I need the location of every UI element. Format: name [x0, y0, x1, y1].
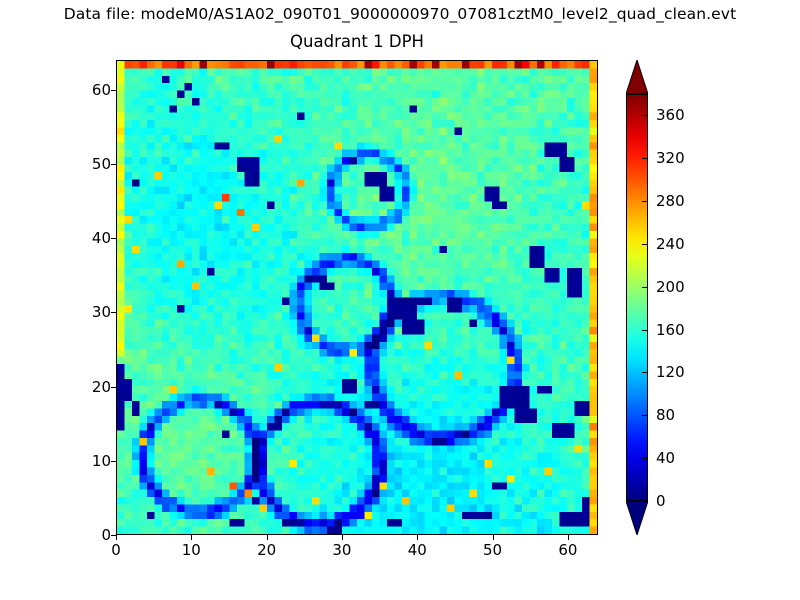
x-tick-mark — [568, 535, 569, 540]
colorbar-tick-mark — [642, 287, 648, 288]
axes-title: Quadrant 1 DPH — [116, 32, 598, 51]
colorbar-tick-mark — [642, 201, 648, 202]
x-tick-mark — [191, 535, 192, 540]
colorbar-tick-mark — [642, 158, 648, 159]
y-tick-label: 40 — [71, 229, 111, 247]
data-file-suptitle: Data file: modeM0/AS1A02_090T01_90000009… — [0, 5, 800, 23]
x-tick-mark — [342, 535, 343, 540]
y-tick-mark — [111, 164, 116, 165]
figure-root: Data file: modeM0/AS1A02_090T01_90000009… — [0, 0, 800, 600]
colorbar-extend-bottom — [626, 501, 648, 535]
x-tick-mark — [116, 535, 117, 540]
colorbar-extend-top — [626, 60, 648, 94]
y-tick-mark — [111, 238, 116, 239]
colorbar-tick-label: 200 — [656, 278, 685, 296]
colorbar-tick-label: 0 — [656, 492, 666, 510]
y-tick-label: 10 — [71, 452, 111, 470]
x-tick-mark — [493, 535, 494, 540]
colorbar-tick-label: 160 — [656, 321, 685, 339]
colorbar-tick-mark — [642, 372, 648, 373]
x-tick-label: 50 — [471, 541, 515, 559]
y-tick-label: 20 — [71, 378, 111, 396]
colorbar-tick-mark — [642, 330, 648, 331]
colorbar-tick-mark — [642, 458, 648, 459]
x-tick-label: 20 — [245, 541, 289, 559]
heatmap-plot-area — [116, 60, 598, 535]
x-tick-label: 10 — [169, 541, 213, 559]
y-tick-label: 30 — [71, 303, 111, 321]
colorbar-tick-label: 80 — [656, 406, 675, 424]
y-tick-label: 50 — [71, 155, 111, 173]
colorbar-tick-label: 280 — [656, 192, 685, 210]
heatmap-image — [117, 61, 597, 534]
colorbar-tick-mark — [642, 115, 648, 116]
colorbar-tick-label: 320 — [656, 149, 685, 167]
colorbar-tick-mark — [642, 244, 648, 245]
y-tick-mark — [111, 312, 116, 313]
x-tick-mark — [267, 535, 268, 540]
x-tick-mark — [417, 535, 418, 540]
colorbar-tick-label: 360 — [656, 106, 685, 124]
x-tick-label: 0 — [94, 541, 138, 559]
colorbar-tick-label: 240 — [656, 235, 685, 253]
y-tick-mark — [111, 387, 116, 388]
y-tick-mark — [111, 90, 116, 91]
colorbar-tick-label: 40 — [656, 449, 675, 467]
y-tick-label: 60 — [71, 81, 111, 99]
y-axis-ticks: 0102030405060 — [66, 60, 111, 535]
y-tick-mark — [111, 461, 116, 462]
x-tick-label: 30 — [320, 541, 364, 559]
colorbar-tick-mark — [642, 415, 648, 416]
colorbar-ticks: 04080120160200240280320360 — [626, 94, 746, 501]
x-axis-ticks: 0102030405060 — [116, 535, 598, 565]
x-tick-label: 40 — [395, 541, 439, 559]
colorbar-tick-mark — [642, 501, 648, 502]
colorbar-tick-label: 120 — [656, 363, 685, 381]
x-tick-label: 60 — [546, 541, 590, 559]
